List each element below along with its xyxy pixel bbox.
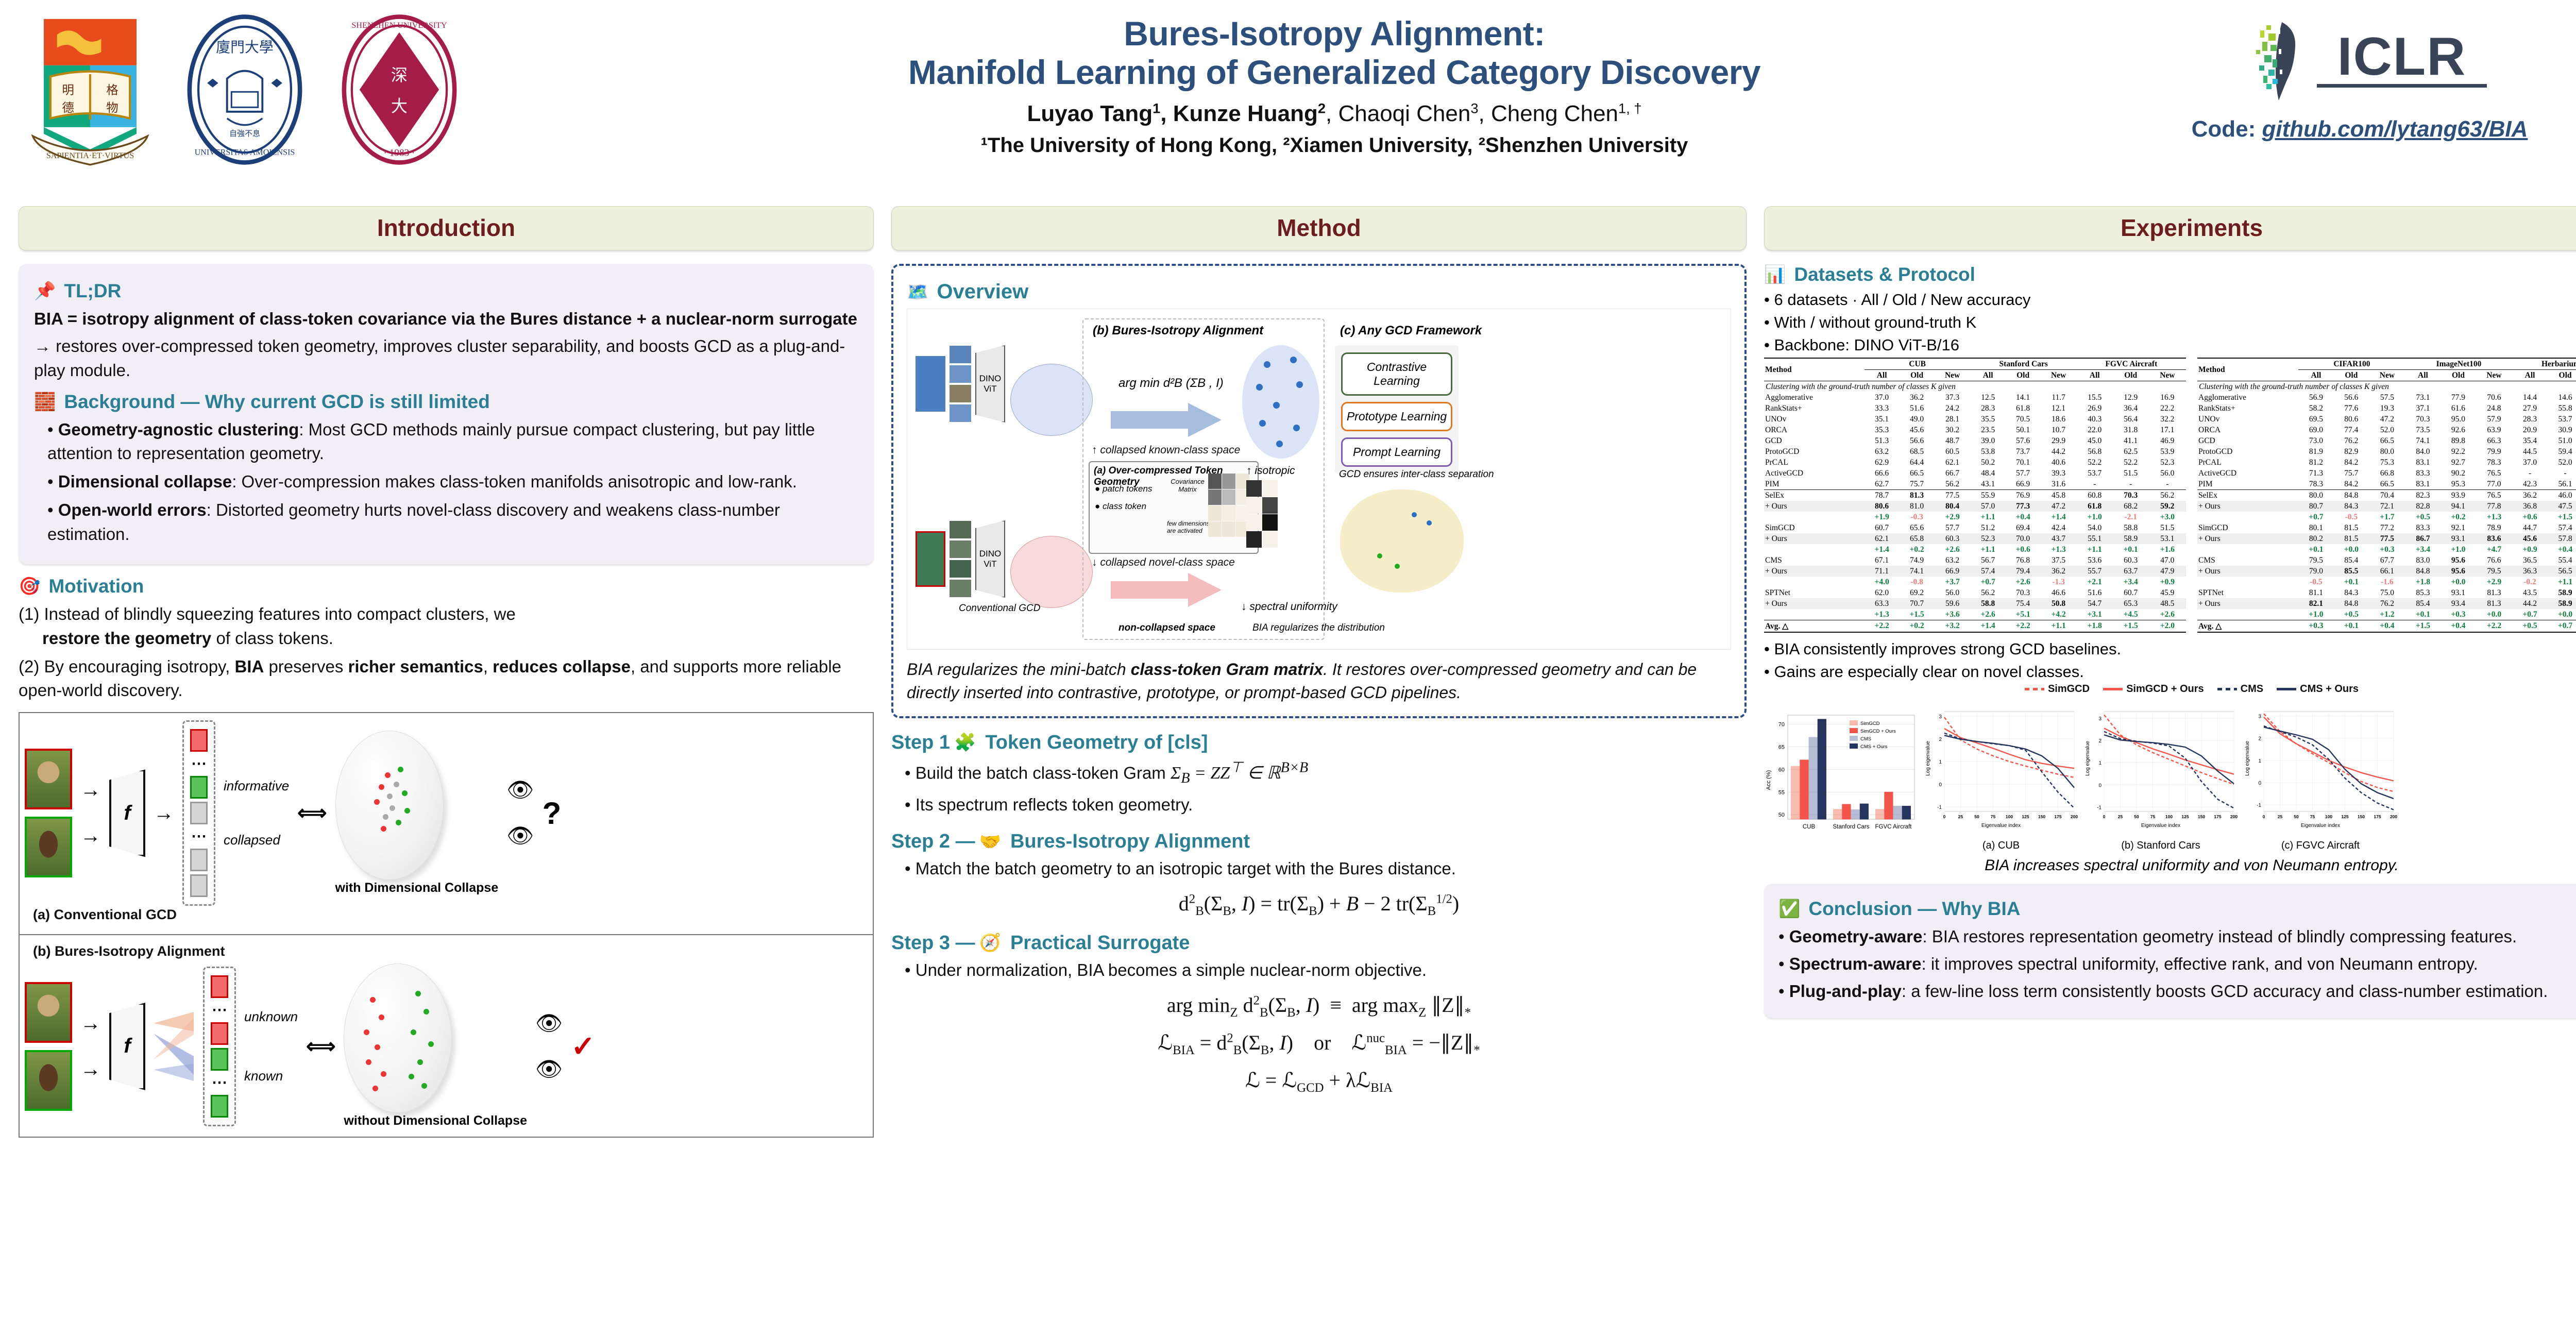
cell-value: 60.5 [1935,446,1971,457]
cell-value: 24.8 [2476,403,2513,414]
cell-value: 80.0 [2369,446,2405,457]
cell-value: 28.3 [2512,414,2547,425]
svg-text:自強不息: 自強不息 [229,129,260,138]
cell-delta: +1.0 [2441,544,2476,555]
cell-value: 92.2 [2441,446,2476,457]
datasets-bullet-3-text: Backbone: DINO ViT-B/16 [1774,336,1959,354]
table-row: PrCAL81.284.275.383.192.778.337.052.028.… [2197,457,2576,468]
compass-icon: 🧭 [979,934,1001,952]
cell-value: 47.0 [2149,555,2186,566]
step1-inline-equation: ΣB = ZZ⊤ ∈ ℝB×B [1171,764,1308,783]
cell-value: 47.2 [2369,414,2405,425]
cell-delta: +0.7 [2298,512,2333,522]
cell-delta: +0.0 [2334,544,2369,555]
cell-avg-label: Avg. △ [2197,620,2298,633]
cell-value: 56.1 [2548,479,2576,490]
step3-equation-1: arg minZ d2B(ΣB, I) ≡ arg maxZ ∥Z∥* [891,993,1747,1020]
svg-text:50: 50 [2134,814,2139,819]
cell-value: 29.9 [2041,435,2077,446]
step3-heading: Step 3 — 🧭 Practical Surrogate [891,932,1747,954]
step3-equation-2: ℒBIA = d2B(ΣB, I) or ℒnucBIA = −∥Z∥* [891,1030,1747,1058]
svg-text:70: 70 [1778,722,1785,728]
th-metric: All [2405,370,2441,381]
cell-value: 81.3 [2476,598,2513,609]
svg-text:CMS: CMS [1860,736,1871,742]
cell-value: 59.4 [2548,446,2576,457]
cell-avg: +0.4 [2441,620,2476,633]
cell-value: 61.8 [2077,501,2113,512]
cell-delta: +1.0 [2077,512,2113,522]
cell-value: 37.3 [1935,392,1971,403]
svg-text:0: 0 [1943,814,1946,819]
cell-value: 83.1 [2405,457,2441,468]
step3-equation-3: ℒ = ℒGCD + λℒBIA [891,1068,1747,1095]
table-row: ProtoGCD63.268.560.553.873.744.256.862.5… [1764,446,2186,457]
cell-avg: +2.2 [2476,620,2513,633]
cell-value: 33.3 [1865,403,1900,414]
legend-label: SimGCD + Ours [2126,683,2204,695]
cell-value: 36.5 [2512,555,2547,566]
collapsed-novel-blob [1010,536,1093,608]
svg-text:200: 200 [2390,814,2397,819]
eigenvalue-line-chart: -101230255075100125150175200Eigenvalue i… [1924,705,2078,835]
isotropic-label: ↑ isotropic [1246,465,1295,477]
sphere-a-caption: with Dimensional Collapse [335,880,499,896]
cell-value: 81.3 [2476,587,2513,598]
cell-delta: +4.5 [2113,609,2149,620]
th-metric: Old [2006,370,2041,381]
svg-text:60: 60 [1778,767,1785,773]
cell-value: 80.2 [2298,533,2333,544]
background-bullet-3: • Open-world errors: Distorted geometry … [47,498,858,547]
panel-a-thumbnails [25,749,72,877]
cell-delta: +1.9 [1865,512,1900,522]
svg-text:1: 1 [2258,758,2261,764]
table-row: RankStats+58.277.619.337.161.624.827.955… [2197,403,2576,414]
section-title-method: Method [892,214,1746,242]
th-metric: New [2476,370,2513,381]
cell-value: 80.6 [2334,414,2369,425]
legend-patch-tokens: ● patch tokens [1095,484,1152,494]
cell-value: 95.3 [2441,479,2476,490]
cell-value: 75.0 [2369,587,2405,598]
svg-text:0: 0 [2098,783,2102,788]
cell-avg: +0.1 [2334,620,2369,633]
conference-block: ICLR Code: github.com/lytang63/BIA [2102,9,2576,142]
section-title-introduction: Introduction [19,214,873,242]
cell-value: 80.1 [2298,522,2333,533]
cell-value: 53.9 [2149,446,2186,457]
cell-value: 84.2 [2334,457,2369,468]
cell-value: 35.1 [1865,414,1900,425]
cell-delta: +3.7 [1935,577,1971,587]
cell-value: 52.2 [2113,457,2149,468]
argmin-label: arg min d²B (ΣB , I) [1118,376,1224,391]
table-row: SelEx78.781.377.555.976.945.860.870.356.… [1764,490,2186,501]
cell-value: 95.6 [2441,555,2476,566]
cell-delta: +1.5 [1900,609,1935,620]
bar [1876,809,1884,819]
cell-value: 55.1 [2077,533,2113,544]
cell-value: 56.5 [2548,566,2576,577]
legend-class-token: ● class token [1095,501,1146,512]
framework-contrastive: Contrastive Learning [1341,352,1452,396]
cell-value: 74.1 [1900,566,1935,577]
alignment-arrow-known [1111,402,1224,438]
cell-value: 50.1 [2006,425,2041,435]
cell-value: 35.4 [2512,435,2547,446]
cell-value: 85.4 [2405,598,2441,609]
verdict-a: ? [543,796,562,831]
table-row: GCD73.076.266.574.189.866.335.451.027.0 [2197,435,2576,446]
svg-text:50: 50 [2294,814,2299,819]
cell-method [2197,577,2298,587]
cell-value: 93.1 [2441,587,2476,598]
cell-method: CMS [2197,555,2298,566]
feature-cell [190,802,208,824]
cell-value: 81.9 [2298,446,2333,457]
cell-value: 62.1 [1865,533,1900,544]
cell-method: GCD [2197,435,2298,446]
svg-text:· 1983 ·: · 1983 · [384,148,415,159]
chart-subcaption: (c) FGVC Aircraft [2243,840,2398,852]
cell-delta: +2.6 [2149,609,2186,620]
cell-delta: +3.0 [2149,512,2186,522]
svg-text:Log eigenvalue: Log eigenvalue [2085,741,2091,776]
cell-delta: +1.1 [1971,544,2006,555]
cell-value: 75.4 [2006,598,2041,609]
cell-value: 70.3 [2006,587,2041,598]
cell-value: 46.0 [2548,490,2576,501]
legend-label: CMS [2241,683,2263,695]
table-row-average: Avg. △+0.3+0.1+0.4+1.5+0.4+2.2+0.5+0.7+0… [2197,620,2576,633]
motivation-item-2-bold1: BIA [234,657,264,676]
cell-value: 15.5 [2077,392,2113,403]
cell-value: - [2512,468,2547,479]
svg-text:2: 2 [1939,737,1942,742]
equivalence-icon: ⟺ [297,801,327,825]
step1-bullet-2: • Its spectrum reflects token geometry. [905,793,1747,817]
svg-text:25: 25 [2278,814,2283,819]
table-row-average: Avg. △+2.2+0.2+3.2+1.4+2.2+1.1+1.8+1.5+2… [1764,620,2186,633]
handshake-icon: 🤝 [979,833,1001,851]
svg-text:50: 50 [1974,814,1979,819]
motivation-item-2-mid: preserves [264,657,348,676]
cell-value: 69.0 [2298,425,2333,435]
cell-delta: +0.3 [2441,609,2476,620]
cell-method: SPTNet [1764,587,1865,598]
cell-value: 58.8 [2113,522,2149,533]
cell-method: SimGCD [1764,522,1865,533]
datasets-bullet-2: • With / without ground-truth K [1764,313,2576,332]
cell-value: 80.4 [1935,501,1971,512]
cell-value: 76.2 [2369,598,2405,609]
cell-method: UNOv [2197,414,2298,425]
cell-value: 53.1 [2149,533,2186,544]
cell-value: 26.9 [2077,403,2113,414]
cell-value: 73.7 [2006,446,2041,457]
cell-value: 31.6 [2041,479,2077,490]
cell-method: RankStats+ [1764,403,1865,414]
cell-value: 45.9 [2149,587,2186,598]
motivation-item-1-bold: restore the geometry [42,629,211,648]
method-caption-bold: class-token Gram matrix [1131,660,1324,679]
motivation-item-2: (2) By encouraging isotropy, BIA preserv… [19,655,874,703]
feature-cell [211,1048,228,1071]
step2-bullet-1-text: Match the batch geometry to an isotropic… [916,859,1456,878]
cell-method: PIM [1764,479,1865,490]
covariance-heatmap [1208,474,1249,537]
cell-method: ORCA [2197,425,2298,435]
cell-value: 71.3 [2298,468,2333,479]
conclusion-heading-label: Conclusion — Why BIA [1808,898,2020,920]
cell-value: 58.9 [2548,598,2576,609]
bar [1834,809,1842,819]
cell-value: 44.5 [2512,446,2547,457]
conclusion-bullet-1-term: Geometry-aware [1789,927,1923,946]
cell-value: 39.0 [1971,435,2006,446]
poster-header: 明 德 格 物 SAPIENTIA·ET·VIRTUS 廈門大學 自強不息 UN… [0,0,2576,206]
legend-swatch [2217,688,2237,690]
svg-text:2: 2 [2098,738,2102,744]
legend-item: CMS [2217,683,2263,695]
bear-image-b [25,982,72,1043]
svg-text:SimGCD + Ours: SimGCD + Ours [1860,729,1896,734]
th-dataset: CUB [1865,358,1971,370]
cell-avg: +2.2 [1865,620,1900,633]
finding-2-text: Gains are especially clear on novel clas… [1774,663,2083,681]
chart-subcaption: (a) CUB [1924,840,2078,852]
author-2: , Chaoqi Chen3, Cheng Chen1, † [1326,101,1641,126]
cell-value: 45.0 [2077,435,2113,446]
token-geometry-panel: (a) Over-compressed Token Geometry ● pat… [1089,461,1259,554]
section-header-experiments: Experiments [1764,206,2576,250]
covariance-matrix-label: Covariance Matrix [1167,478,1208,493]
svg-text:Log eigenvalue: Log eigenvalue [1925,741,1931,776]
bar [1800,760,1808,819]
cell-value: 12.9 [2113,392,2149,403]
method-caption: BIA regularizes the mini-batch class-tok… [907,658,1731,705]
cell-method [2197,512,2298,522]
cell-method: Agglomerative [1764,392,1865,403]
svg-text:Log eigenvalue: Log eigenvalue [2245,741,2250,776]
charts-row: 5055606570CUBStanford CarsFGVC AircraftA… [1764,705,2576,852]
cell-value: 57.4 [2548,522,2576,533]
cell-value: 37.1 [2405,403,2441,414]
cell-value: 51.5 [2149,522,2186,533]
th-dataset: ImageNet100 [2405,358,2513,370]
cell-value: 44.2 [2512,598,2547,609]
cell-method: ORCA [1764,425,1865,435]
check-icon: ✅ [1778,900,1800,918]
cell-value: 56.6 [1900,435,1935,446]
cell-value: 77.3 [2006,501,2041,512]
cell-value: - [2548,468,2576,479]
cell-value: 85.4 [2334,555,2369,566]
cell-value: 52.0 [2548,457,2576,468]
cell-value: 56.4 [2113,414,2149,425]
cell-method: ProtoGCD [2197,446,2298,457]
cell-value: 37.5 [2041,555,2077,566]
cell-value: 71.1 [1865,566,1900,577]
code-link[interactable]: github.com/lytang63/BIA [2262,116,2528,142]
step1-bullet-1-text: Build the batch class-token Gram [916,763,1166,782]
hku-crest-logo: 明 德 格 物 SAPIENTIA·ET·VIRTUS [21,12,160,167]
cell-value: 54.7 [2077,598,2113,609]
cell-value: 77.2 [2369,522,2405,533]
svg-text:25: 25 [2118,814,2123,819]
svg-text:Eigenvalue index: Eigenvalue index [1981,823,2021,828]
th-metric: New [1935,370,1971,381]
cell-value: 63.3 [1865,598,1900,609]
eigenvalue-line-chart: -101230255075100125150175200Eigenvalue i… [2243,705,2398,835]
cell-method [1764,577,1865,587]
cell-method: ActiveGCD [1764,468,1865,479]
arrow-icon: → [80,1012,101,1035]
patch-strip-bottom [950,521,971,597]
cell-delta: +2.6 [1971,609,2006,620]
eigenvalue-line-chart: -101230255075100125150175200Eigenvalue i… [2083,705,2238,835]
cell-delta: +0.1 [2113,544,2149,555]
panel-a-arrows: → → [80,779,101,848]
cell-value: 94.1 [2441,501,2476,512]
eye-icon: 👁 [535,1057,563,1082]
cell-value: 30.9 [2548,425,2576,435]
cell-value: 70.6 [2476,392,2513,403]
cell-value: 84.8 [2405,566,2441,577]
svg-text:0: 0 [2103,814,2106,819]
th-dataset: Herbarium 19 [2512,358,2576,370]
datasets-bullet-1-text: 6 datasets · All / Old / New accuracy [1774,291,2030,309]
dino-vit-label-bottom: DINO ViT [976,549,1004,569]
table-row: + Ours80.681.080.457.077.347.261.868.259… [1764,501,2186,512]
cell-value: 51.5 [2113,468,2149,479]
cell-value: 20.9 [2512,425,2547,435]
gcd-separation-blob [1340,489,1464,593]
cell-value: 19.3 [2369,403,2405,414]
ellipsis-icon: ⋯ [211,1074,228,1092]
cell-value: 57.7 [1935,522,1971,533]
cell-value: 70.7 [1900,598,1935,609]
panel-a-label: (a) Conventional GCD [25,906,868,927]
svg-text:150: 150 [2038,814,2045,819]
th-metric: Old [1900,370,1935,381]
cell-value: 66.6 [1865,468,1900,479]
motivation-item-1: (1) Instead of blindly squeezing feature… [19,602,874,651]
cell-value: 52.3 [2149,457,2186,468]
cell-avg-label: Avg. △ [1764,620,1865,633]
conclusion-panel: ✅ Conclusion — Why BIA • Geometry-aware:… [1764,884,2576,1018]
cell-method: + Ours [1764,533,1865,544]
encoder-b: f [109,1003,145,1090]
cell-delta: -2.1 [2113,512,2149,522]
cell-delta: +0.0 [2548,609,2576,620]
cell-method: SPTNet [2197,587,2298,598]
cell-value: 40.6 [2041,457,2077,468]
cell-delta: +0.5 [2334,609,2369,620]
panel-b-thumbnails [25,982,72,1111]
svg-text:-1: -1 [1937,805,1942,810]
cell-value: 46.9 [2149,435,2186,446]
cell-value: 84.0 [2405,446,2441,457]
cell-delta: +1.4 [2041,512,2077,522]
cell-value: 80.6 [1865,501,1900,512]
conclusion-bullet-2: • Spectrum-aware: it improves spectral u… [1778,952,2576,976]
cell-value: 66.5 [1900,468,1935,479]
cell-value: 51.0 [2548,435,2576,446]
cell-value: 79.5 [2476,566,2513,577]
cell-value: 56.0 [2149,468,2186,479]
feature-vector-b: ⋯ ⋯ [203,967,236,1126]
cell-value: 82.9 [2334,446,2369,457]
cell-avg: +0.4 [2369,620,2405,633]
finding-2: • Gains are especially clear on novel cl… [1764,663,2576,681]
cell-value: 14.6 [2548,392,2576,403]
table-row-delta: +1.3+1.5+3.6+2.6+5.1+4.2+3.1+4.5+2.6 [1764,609,2186,620]
conclusion-bullet-3-term: Plug-and-play [1789,982,1902,1001]
svg-text:2: 2 [2258,736,2261,742]
th-metric: All [2077,370,2113,381]
overview-heading: 🗺️ Overview [907,280,1731,303]
table-row: + Ours80.281.577.586.793.183.645.657.839… [2197,533,2576,544]
cell-delta: +0.9 [2149,577,2186,587]
cell-delta: +1.2 [2369,609,2405,620]
th-metric: All [1971,370,2006,381]
cell-delta: +0.2 [2441,512,2476,522]
background-bullet-1: • Geometry-agnostic clustering: Most GCD… [47,418,858,466]
cell-value: 78.3 [2298,479,2333,490]
table-row: GCD51.356.648.739.057.629.945.041.146.9 [1764,435,2186,446]
cell-value: 56.2 [2149,490,2186,501]
column-method: Method 🗺️ Overview [891,206,1747,1309]
sphere-b-caption: without Dimensional Collapse [344,1113,527,1129]
bar [1851,810,1859,819]
conclusion-bullet-2-text: : it improves spectral uniformity, effec… [1922,954,2478,973]
table-row: CMS79.585.467.783.095.676.636.555.426.4 [2197,555,2576,566]
cell-method: ProtoGCD [1764,446,1865,457]
cell-value: 79.0 [2298,566,2333,577]
cell-value: 70.1 [2006,457,2041,468]
brace-collapsed-label: collapsed [224,832,289,848]
th-dataset: FGVC Aircraft [2077,358,2186,370]
cell-value: 36.2 [1900,392,1935,403]
svg-text:200: 200 [2071,814,2078,819]
poster-title-line1: Bures-Isotropy Alignment: [567,14,2102,53]
cell-value: 70.3 [2405,414,2441,425]
line-chart-wrap: -101230255075100125150175200Eigenvalue i… [1924,705,2078,852]
svg-text:75: 75 [1991,814,1996,819]
cell-value: 36.4 [2113,403,2149,414]
cell-delta: +2.6 [1935,544,1971,555]
feature-cell [190,776,208,799]
brace-informative-label: informative [224,778,289,794]
cell-avg: +1.4 [1971,620,2006,633]
cell-delta: -0.5 [2334,512,2369,522]
target-icon: 🎯 [19,578,40,595]
cell-method [1764,609,1865,620]
cell-value: 36.2 [2041,566,2077,577]
cell-avg: +2.2 [2006,620,2041,633]
step1-heading: Step 1 🧩 Token Geometry of [cls] [891,732,1747,754]
cell-value: 53.6 [2077,555,2113,566]
affiliations: ¹The University of Hong Kong, ²Xiamen Un… [567,134,2102,157]
th-metric: All [2512,370,2547,381]
cell-value: - [2149,479,2186,490]
cell-avg: +1.1 [2041,620,2077,633]
cell-value: 51.2 [1971,522,2006,533]
cell-method: + Ours [2197,501,2298,512]
cell-value: 36.3 [2512,566,2547,577]
